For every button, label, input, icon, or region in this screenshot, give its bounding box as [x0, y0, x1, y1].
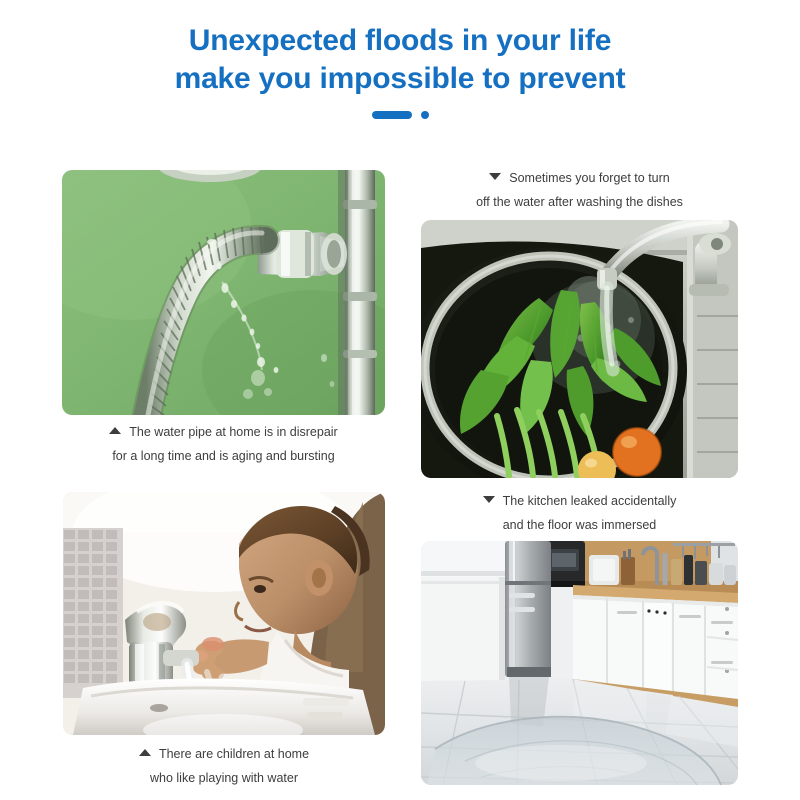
caption-kitchen-sink: Sometimes you forget to turn off the wat… [421, 166, 738, 214]
caption-child-text-1: There are children at home [159, 747, 309, 761]
child-at-sink-illustration [63, 492, 385, 735]
caption-kitchen-text-1: The kitchen leaked accidentally [503, 494, 677, 508]
caption-line-1: The water pipe at home is in disrepair [62, 420, 385, 444]
triangle-up-icon [109, 427, 121, 434]
divider-bar-icon [372, 111, 412, 119]
page-title-line-1: Unexpected floods in your life [0, 22, 800, 60]
caption-flooded-kitchen: The kitchen leaked accidentally and the … [421, 489, 738, 537]
triangle-up-icon [139, 749, 151, 756]
caption-sink-text-1: Sometimes you forget to turn [509, 171, 670, 185]
water-pipe-illustration [62, 170, 385, 415]
infographic-page: Unexpected floods in your life make you … [0, 0, 800, 800]
caption-line-2: who like playing with water [63, 766, 385, 790]
caption-pipe-text-1: The water pipe at home is in disrepair [129, 425, 337, 439]
triangle-down-icon [483, 496, 495, 503]
caption-line-2: off the water after washing the dishes [421, 190, 738, 214]
divider-dot-icon [421, 111, 429, 119]
caption-line-1: Sometimes you forget to turn [421, 166, 738, 190]
caption-line-2: for a long time and is aging and burstin… [62, 444, 385, 468]
triangle-down-icon [489, 173, 501, 180]
caption-line-2: and the floor was immersed [421, 513, 738, 537]
caption-child-playing-with-water: There are children at home who like play… [63, 742, 385, 790]
title-divider [0, 111, 800, 119]
caption-water-pipe: The water pipe at home is in disrepair f… [62, 420, 385, 468]
photo-flooded-kitchen [421, 541, 738, 785]
caption-line-1: The kitchen leaked accidentally [421, 489, 738, 513]
kitchen-sink-illustration [421, 220, 738, 478]
photo-water-pipe [62, 170, 385, 415]
photo-kitchen-sink [421, 220, 738, 478]
photo-child-playing-with-water [63, 492, 385, 735]
caption-line-1: There are children at home [63, 742, 385, 766]
flooded-kitchen-illustration [421, 541, 738, 785]
page-title-line-2: make you impossible to prevent [0, 60, 800, 98]
header: Unexpected floods in your life make you … [0, 22, 800, 119]
